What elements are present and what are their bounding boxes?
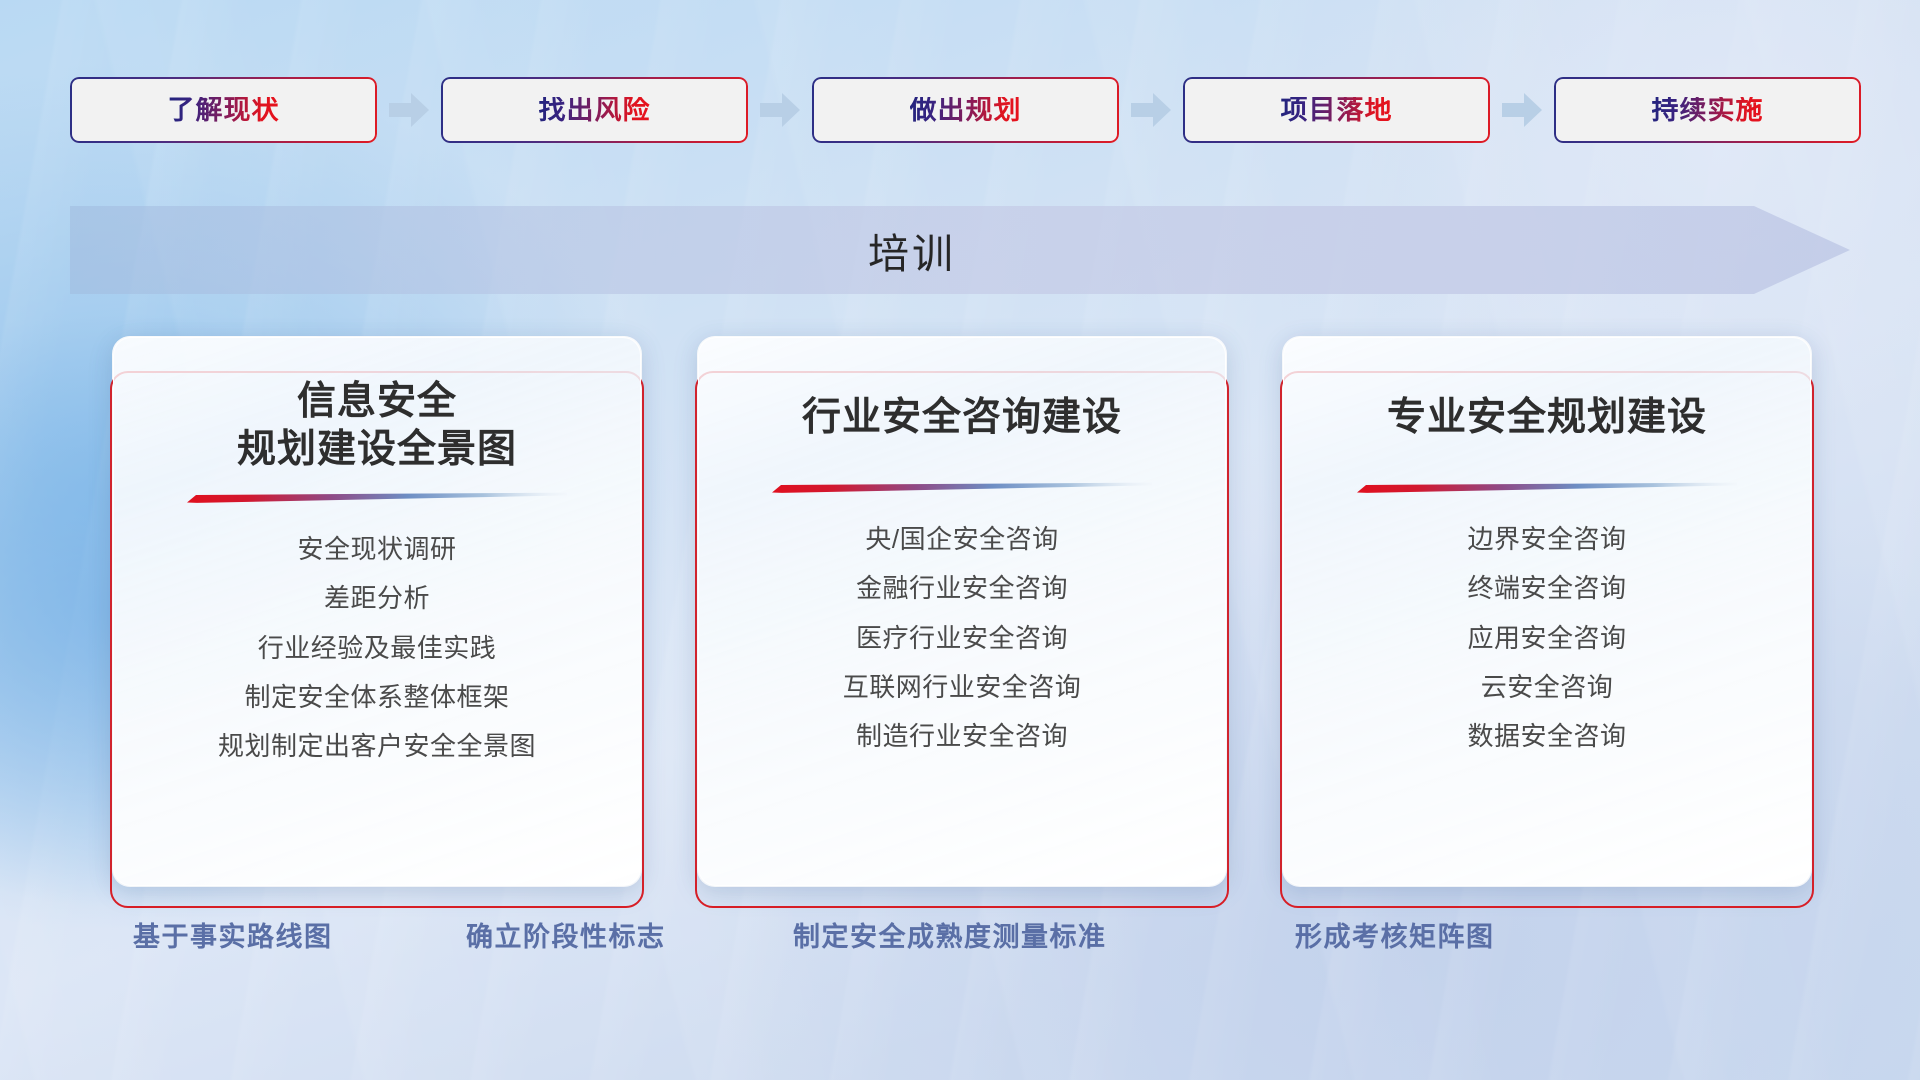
process-step-1[interactable]: 了解现状 bbox=[70, 77, 377, 143]
card-title: 信息安全 规划建设全景图 bbox=[237, 378, 517, 474]
card-list-item: 互联网行业安全咨询 bbox=[843, 667, 1082, 707]
training-banner-label: 培训 bbox=[70, 206, 1754, 294]
process-step-3[interactable]: 做出规划 bbox=[812, 77, 1119, 143]
card-list-item: 制定安全体系整体框架 bbox=[244, 677, 509, 717]
process-step-label: 找出风险 bbox=[539, 97, 651, 124]
process-step-2[interactable]: 找出风险 bbox=[441, 77, 748, 143]
footer-note-3: 制定安全成熟度测量标准 bbox=[793, 915, 1107, 954]
card-item-list: 边界安全咨询终端安全咨询应用安全咨询云安全咨询数据安全咨询 bbox=[1284, 519, 1810, 756]
card-list-item: 央/国企安全咨询 bbox=[865, 519, 1058, 559]
service-card-3[interactable]: 专业安全规划建设边界安全咨询终端安全咨询应用安全咨询云安全咨询数据安全咨询 bbox=[1282, 336, 1812, 887]
card-list-item: 医疗行业安全咨询 bbox=[856, 618, 1068, 658]
card-list-item: 差距分析 bbox=[324, 578, 430, 618]
card-list-item: 安全现状调研 bbox=[297, 529, 456, 569]
card-list-item: 行业经验及最佳实践 bbox=[258, 628, 497, 668]
process-step-5[interactable]: 持续实施 bbox=[1554, 77, 1861, 143]
process-step-4[interactable]: 项目落地 bbox=[1183, 77, 1490, 143]
card-list-item: 终端安全咨询 bbox=[1467, 568, 1626, 608]
card-title: 行业安全咨询建设 bbox=[802, 394, 1122, 442]
process-step-row: 了解现状找出风险做出规划项目落地持续实施 bbox=[70, 77, 1850, 143]
training-banner: 培训 bbox=[70, 206, 1850, 294]
card-list-item: 金融行业安全咨询 bbox=[856, 568, 1068, 608]
card-list-item: 数据安全咨询 bbox=[1467, 716, 1626, 756]
footer-note-1: 基于事实路线图 bbox=[133, 915, 333, 954]
card-list-item: 应用安全咨询 bbox=[1467, 618, 1626, 658]
arrow-right-icon bbox=[1490, 77, 1554, 143]
footer-note-2: 确立阶段性标志 bbox=[466, 915, 666, 954]
arrow-right-icon bbox=[377, 77, 441, 143]
service-card-1[interactable]: 信息安全 规划建设全景图安全现状调研差距分析行业经验及最佳实践制定安全体系整体框… bbox=[112, 336, 642, 887]
footer-note-4: 形成考核矩阵图 bbox=[1295, 915, 1495, 954]
process-step-label: 做出规划 bbox=[910, 97, 1022, 124]
process-step-label: 持续实施 bbox=[1652, 97, 1764, 124]
card-surface: 专业安全规划建设边界安全咨询终端安全咨询应用安全咨询云安全咨询数据安全咨询 bbox=[1283, 337, 1811, 886]
card-list-item: 云安全咨询 bbox=[1481, 667, 1614, 707]
process-step-label: 项目落地 bbox=[1281, 97, 1393, 124]
service-card-2[interactable]: 行业安全咨询建设央/国企安全咨询金融行业安全咨询医疗行业安全咨询互联网行业安全咨… bbox=[697, 336, 1227, 887]
card-surface: 信息安全 规划建设全景图安全现状调研差距分析行业经验及最佳实践制定安全体系整体框… bbox=[113, 337, 641, 886]
card-divider-rule bbox=[1357, 482, 1737, 493]
process-step-label: 了解现状 bbox=[168, 97, 280, 124]
card-item-list: 央/国企安全咨询金融行业安全咨询医疗行业安全咨询互联网行业安全咨询制造行业安全咨… bbox=[699, 519, 1225, 756]
card-divider-rule bbox=[187, 492, 567, 503]
card-divider-rule bbox=[772, 482, 1152, 493]
card-item-list: 安全现状调研差距分析行业经验及最佳实践制定安全体系整体框架规划制定出客户安全全景… bbox=[114, 529, 640, 766]
arrow-right-icon bbox=[748, 77, 812, 143]
card-surface: 行业安全咨询建设央/国企安全咨询金融行业安全咨询医疗行业安全咨询互联网行业安全咨… bbox=[698, 337, 1226, 886]
card-title: 专业安全规划建设 bbox=[1387, 394, 1707, 442]
footer-note-row: 基于事实路线图确立阶段性标志制定安全成熟度测量标准形成考核矩阵图 bbox=[0, 915, 1920, 961]
card-list-item: 制造行业安全咨询 bbox=[856, 716, 1068, 756]
service-card-row: 信息安全 规划建设全景图安全现状调研差距分析行业经验及最佳实践制定安全体系整体框… bbox=[112, 336, 1812, 887]
card-list-item: 规划制定出客户安全全景图 bbox=[218, 726, 536, 766]
arrow-right-icon bbox=[1119, 77, 1183, 143]
card-list-item: 边界安全咨询 bbox=[1467, 519, 1626, 559]
